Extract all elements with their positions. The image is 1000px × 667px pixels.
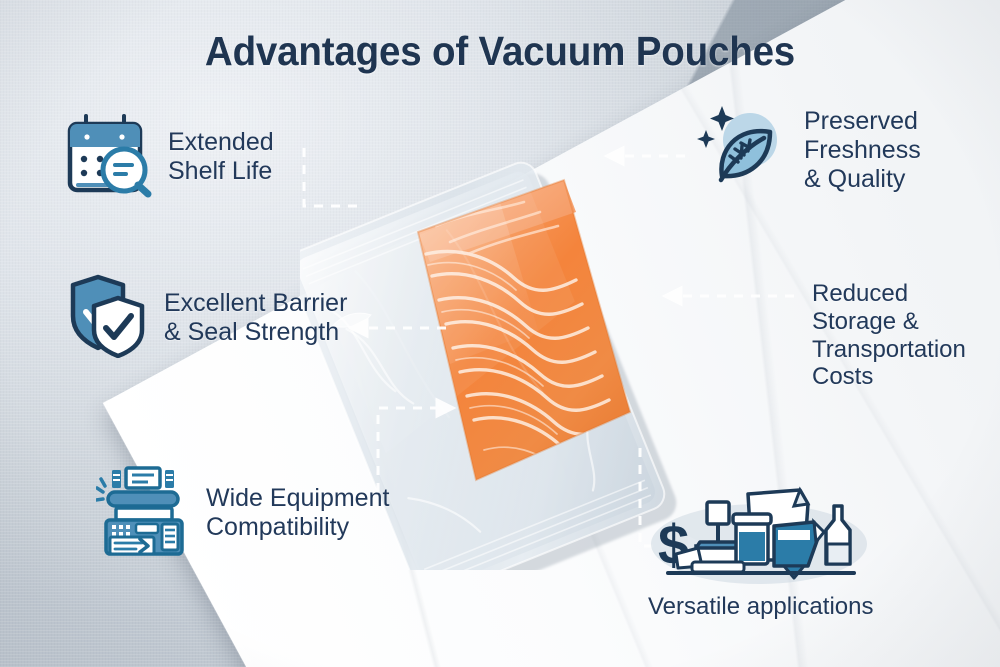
infographic-canvas: Advantages of Vacuum Pouches bbox=[0, 0, 1000, 667]
vignette-overlay bbox=[0, 0, 1000, 667]
